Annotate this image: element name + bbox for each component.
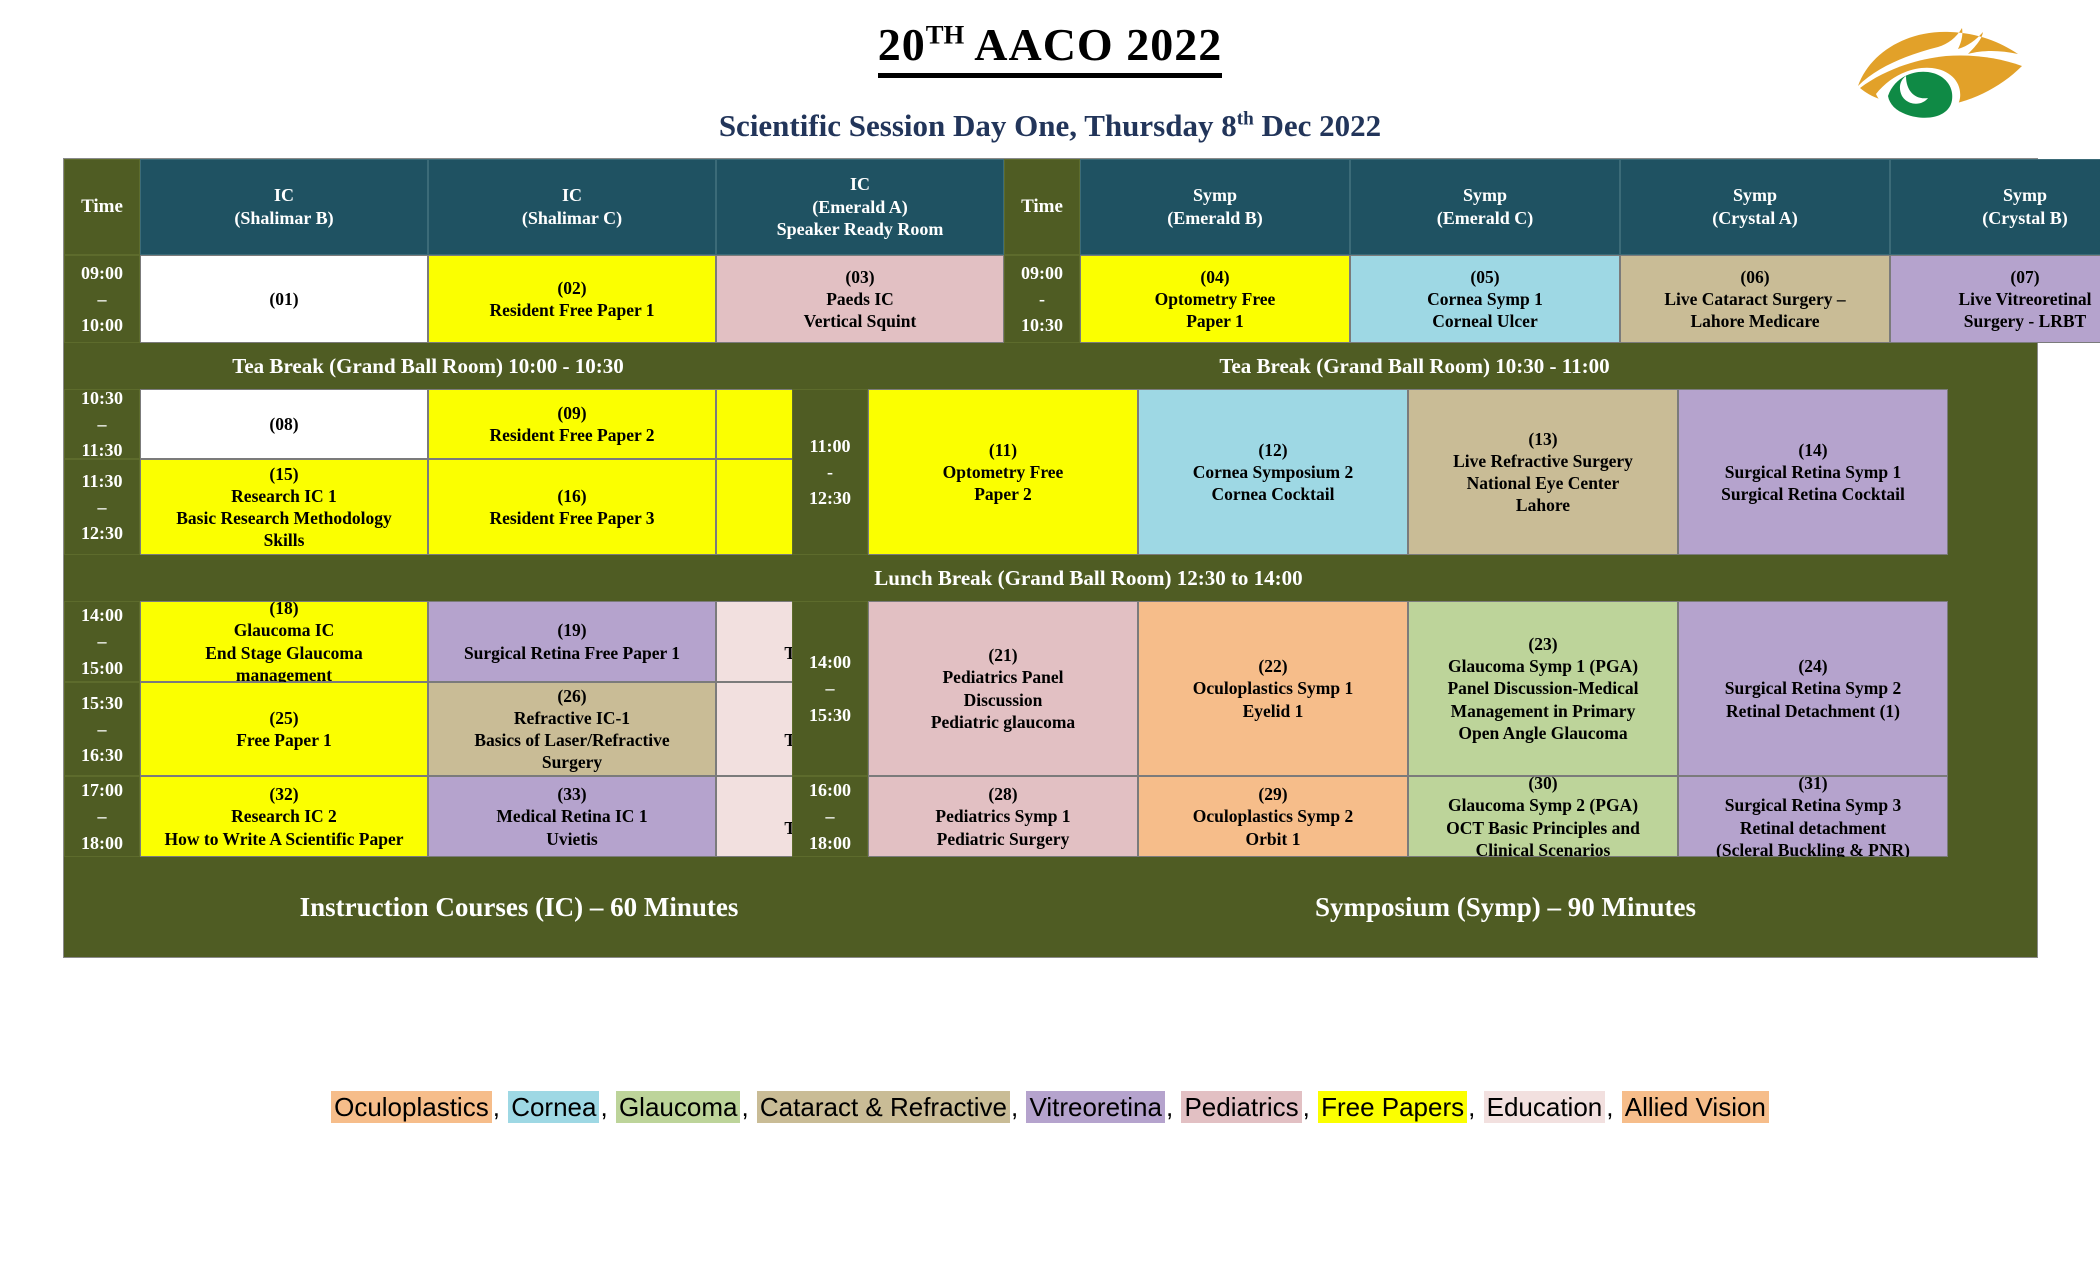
legend-chip-allied-vision: Allied Vision: [1622, 1091, 1769, 1123]
session-07[interactable]: (07) Live Vitreoretinal Surgery - LRBT: [1890, 255, 2100, 343]
session-number: (04): [1155, 266, 1276, 288]
session-subtitle: Orbit 1: [1193, 828, 1353, 850]
session-number: (24): [1725, 655, 1901, 677]
session-number: (13): [1453, 428, 1633, 450]
session-number: (25): [236, 707, 332, 729]
lunch-break-spacer: [64, 555, 140, 601]
session-subtitle-2: Surgery: [474, 751, 669, 773]
session-subtitle: Surgical Retina Cocktail: [1721, 483, 1905, 505]
session-number: (22): [1193, 655, 1353, 677]
title-rest: AACO 2022: [964, 19, 1222, 70]
header-emerald-a: IC (Emerald A) Speaker Ready Room: [716, 159, 1004, 255]
session-number: (21): [931, 644, 1075, 666]
header-type: Symp: [1193, 184, 1237, 207]
time-start: 14:00: [809, 649, 851, 675]
session-title: Optometry Free: [943, 461, 1064, 483]
header-venue: (Emerald B): [1167, 207, 1262, 230]
session-number: (28): [935, 783, 1070, 805]
session-title: Oculoplastics Symp 2: [1193, 805, 1353, 827]
time-end: 18:00: [809, 830, 851, 856]
time-end: 10:30: [1021, 312, 1063, 338]
page-title: 20TH AACO 2022: [0, 18, 2100, 78]
session-subtitle-3: Open Angle Glaucoma: [1447, 722, 1638, 744]
session-number: (32): [165, 783, 404, 805]
session-row-0900: 09:00 – 10:00 (01) (02) Resident Free Pa…: [64, 255, 2037, 343]
time-slot-1130-1230: 11:30 – 12:30: [64, 459, 140, 555]
session-09[interactable]: (09) Resident Free Paper 2: [428, 389, 716, 459]
time-slot-1600-1800: 16:00 – 18:00: [792, 776, 868, 857]
time-slot-1100-1230: 11:00 - 12:30: [792, 389, 868, 555]
page-header: 20TH AACO 2022 Scientific Session Day On…: [0, 0, 2100, 150]
header-type: Symp: [1733, 184, 1777, 207]
title-number: 20: [878, 19, 926, 70]
session-number: (14): [1721, 439, 1905, 461]
session-number: (03): [804, 266, 917, 288]
session-subtitle: Vertical Squint: [804, 310, 917, 332]
time-slot-1530-1630: 15:30 – 16:30: [64, 682, 140, 776]
session-25[interactable]: (25) Free Paper 1: [140, 682, 428, 776]
legend-sep: ,: [740, 1092, 749, 1122]
legend-sep: ,: [1165, 1092, 1174, 1122]
subrow-1130-1230: 11:30 – 12:30 (15) Research IC 1 Basic R…: [64, 459, 792, 555]
session-30[interactable]: (30) Glaucoma Symp 2 (PGA) OCT Basic Pri…: [1408, 776, 1678, 857]
time-start: 09:00: [1021, 260, 1063, 286]
session-title: Pediatrics Panel: [931, 666, 1075, 688]
session-28[interactable]: (28) Pediatrics Symp 1 Pediatric Surgery: [868, 776, 1138, 857]
session-subtitle: Paper 2: [943, 483, 1064, 505]
session-05[interactable]: (05) Cornea Symp 1 Corneal Ulcer: [1350, 255, 1620, 343]
session-title: Glaucoma IC: [205, 619, 363, 641]
session-18[interactable]: (18) Glaucoma IC End Stage Glaucoma mana…: [140, 601, 428, 682]
session-title: Free Paper 1: [236, 729, 332, 751]
session-number: (30): [1446, 772, 1640, 794]
session-title: Surgical Retina Free Paper 1: [464, 642, 680, 664]
session-number: (02): [489, 277, 654, 299]
session-subtitle-2: Lahore: [1453, 494, 1633, 516]
time-dash: –: [98, 286, 107, 312]
session-26[interactable]: (26) Refractive IC-1 Basics of Laser/Ref…: [428, 682, 716, 776]
session-title: Refractive IC-1: [474, 707, 669, 729]
footer-symp-duration: Symposium (Symp) – 90 Minutes: [974, 857, 2037, 957]
session-subtitle: Basics of Laser/Refractive: [474, 729, 669, 751]
session-13[interactable]: (13) Live Refractive Surgery National Ey…: [1408, 389, 1678, 555]
session-number: (12): [1193, 439, 1353, 461]
time-start: 14:00: [81, 602, 123, 628]
table-footer-row: Instruction Courses (IC) – 60 Minutes Sy…: [64, 857, 2037, 957]
subrow-right-1600-1800: 16:00 – 18:00 (28) Pediatrics Symp 1 Ped…: [792, 776, 1949, 857]
session-title: Cornea Symp 1: [1427, 288, 1543, 310]
time-slot-1400-1500: 14:00 – 15:00: [64, 601, 140, 682]
session-04[interactable]: (04) Optometry Free Paper 1: [1080, 255, 1350, 343]
time-start: 15:30: [81, 690, 123, 716]
session-subtitle: Surgery - LRBT: [1958, 310, 2091, 332]
session-number: (26): [474, 685, 669, 707]
session-number: (33): [496, 783, 647, 805]
session-number: (07): [1958, 266, 2091, 288]
time-end: 15:00: [81, 655, 123, 681]
page-subtitle: Scientific Session Day One, Thursday 8th…: [0, 108, 2100, 144]
legend-chip-pediatrics: Pediatrics: [1181, 1091, 1301, 1123]
time-end: 16:30: [81, 742, 123, 768]
legend-chip-vitreoretina: Vitreoretina: [1026, 1091, 1165, 1123]
session-subtitle: Retinal detachment: [1716, 817, 1910, 839]
session-subtitle-2: Management in Primary: [1447, 700, 1638, 722]
session-number: (19): [464, 619, 680, 641]
time-slot-1700-1800: 17:00 – 18:00: [64, 776, 140, 857]
session-number: (06): [1664, 266, 1845, 288]
legend-sep: ,: [492, 1092, 501, 1122]
session-number: (15): [176, 463, 392, 485]
time-slot-0900-1030: 09:00 - 10:30: [1004, 255, 1080, 343]
session-21[interactable]: (21) Pediatrics Panel Discussion Pediatr…: [868, 601, 1138, 776]
session-subtitle: Corneal Ulcer: [1427, 310, 1543, 332]
session-title: Research IC 2: [165, 805, 404, 827]
time-dash: -: [827, 459, 833, 485]
title-ordinal-suffix: TH: [926, 20, 965, 50]
session-subtitle: How to Write A Scientific Paper: [165, 828, 404, 850]
tea-break-right: Tea Break (Grand Ball Room) 10:30 - 11:0…: [792, 343, 2037, 389]
legend-sep: ,: [1302, 1092, 1311, 1122]
subrow-1030-1130: 10:30 – 11:30 (08) (09) Resident Free Pa…: [64, 389, 792, 459]
legend-sep: ,: [1467, 1092, 1476, 1122]
session-subtitle: Uvietis: [496, 828, 647, 850]
session-number: (08): [269, 413, 298, 435]
header-venue: (Shalimar C): [522, 207, 622, 230]
session-title: Surgical Retina Symp 1: [1721, 461, 1905, 483]
session-subtitle-2: Pediatric glaucoma: [931, 711, 1075, 733]
header-emerald-c: Symp (Emerald C): [1350, 159, 1620, 255]
session-title: Medical Retina IC 1: [496, 805, 647, 827]
session-title: Resident Free Paper 2: [489, 424, 654, 446]
schedule-page: 20TH AACO 2022 Scientific Session Day On…: [0, 0, 2100, 1275]
session-subtitle: OCT Basic Principles and: [1446, 817, 1640, 839]
header-time-right: Time: [1004, 159, 1080, 255]
lunch-break-row: Lunch Break (Grand Ball Room) 12:30 to 1…: [64, 555, 2037, 601]
session-title: Glaucoma Symp 1 (PGA): [1447, 655, 1638, 677]
legend-sep: ,: [1010, 1092, 1019, 1122]
legend-sep: ,: [599, 1092, 608, 1122]
session-subtitle: National Eye Center: [1453, 472, 1633, 494]
session-title: Resident Free Paper 1: [489, 299, 654, 321]
session-11[interactable]: (11) Optometry Free Paper 2: [868, 389, 1138, 555]
tea-break-left: Tea Break (Grand Ball Room) 10:00 - 10:3…: [64, 343, 792, 389]
session-subtitle: Pediatric Surgery: [935, 828, 1070, 850]
header-type: IC: [274, 184, 294, 207]
session-title: Pediatrics Symp 1: [935, 805, 1070, 827]
legend-chip-oculoplastics: Oculoplastics: [331, 1091, 492, 1123]
time-end: 12:30: [81, 520, 123, 546]
session-title: Research IC 1: [176, 485, 392, 507]
session-title: Resident Free Paper 3: [489, 507, 654, 529]
legend-chip-glaucoma: Glaucoma: [616, 1091, 741, 1123]
time-dash: –: [98, 716, 107, 742]
header-emerald-b: Symp (Emerald B): [1080, 159, 1350, 255]
time-dash: –: [98, 494, 107, 520]
session-number: (18): [205, 597, 363, 619]
session-subtitle: Discussion: [931, 689, 1075, 711]
legend-chip-education: Education: [1484, 1091, 1606, 1123]
time-start: 16:00: [809, 777, 851, 803]
session-number: (11): [943, 439, 1064, 461]
session-03[interactable]: (03) Paeds IC Vertical Squint: [716, 255, 1004, 343]
session-subtitle: Lahore Medicare: [1664, 310, 1845, 332]
session-title: Optometry Free: [1155, 288, 1276, 310]
session-subtitle: Retinal Detachment (1): [1725, 700, 1901, 722]
session-title: Live Cataract Surgery –: [1664, 288, 1845, 310]
legend-chip-cornea: Cornea: [508, 1091, 599, 1123]
session-number: (23): [1447, 633, 1638, 655]
specialty-legend: Oculoplastics, Cornea, Glaucoma, Catarac…: [0, 1092, 2100, 1123]
header-type: IC: [562, 184, 582, 207]
time-dash: –: [98, 628, 107, 654]
session-subtitle: Basic Research Methodology: [176, 507, 392, 529]
session-title: Surgical Retina Symp 2: [1725, 677, 1901, 699]
lunch-break-label: Lunch Break (Grand Ball Room) 12:30 to 1…: [140, 555, 2037, 601]
session-title: Glaucoma Symp 2 (PGA): [1446, 794, 1640, 816]
subrow-1700-1800: 17:00 – 18:00 (32) Research IC 2 How to …: [64, 776, 792, 857]
footer-ic-duration: Instruction Courses (IC) – 60 Minutes: [64, 857, 974, 957]
session-title: Oculoplastics Symp 1: [1193, 677, 1353, 699]
session-row-afternoon: 14:00 – 15:00 (18) Glaucoma IC End Stage…: [64, 601, 2037, 857]
session-06[interactable]: (06) Live Cataract Surgery – Lahore Medi…: [1620, 255, 1890, 343]
session-subtitle: Panel Discussion-Medical: [1447, 677, 1638, 699]
session-14[interactable]: (14) Surgical Retina Symp 1 Surgical Ret…: [1678, 389, 1948, 555]
session-15[interactable]: (15) Research IC 1 Basic Research Method…: [140, 459, 428, 555]
time-slot-1400-1530: 14:00 – 15:30: [792, 601, 868, 776]
session-31[interactable]: (31) Surgical Retina Symp 3 Retinal deta…: [1678, 776, 1948, 857]
subrow-right-1400-1530: 14:00 – 15:30 (21) Pediatrics Panel Disc…: [792, 601, 1949, 776]
time-start: 11:30: [81, 468, 122, 494]
header-venue: (Crystal A): [1712, 207, 1797, 230]
time-dash: –: [98, 803, 107, 829]
header-type: Symp: [1463, 184, 1507, 207]
session-number: (09): [489, 402, 654, 424]
aaco-eye-logo: [1850, 14, 2040, 124]
time-dash: –: [826, 675, 835, 701]
session-title: Live Refractive Surgery: [1453, 450, 1633, 472]
session-subtitle-2: Skills: [176, 529, 392, 551]
session-subtitle: Cornea Cocktail: [1193, 483, 1353, 505]
session-24[interactable]: (24) Surgical Retina Symp 2 Retinal Deta…: [1678, 601, 1948, 776]
legend-chip-free-papers: Free Papers: [1318, 1091, 1467, 1123]
schedule-table: Time IC (Shalimar B) IC (Shalimar C) IC …: [63, 158, 2038, 958]
subrow-1530-1630: 15:30 – 16:30 (25) Free Paper 1 (26) Ref…: [64, 682, 792, 776]
session-subtitle: End Stage Glaucoma: [205, 642, 363, 664]
time-slot-0900-1000: 09:00 – 10:00: [64, 255, 140, 343]
session-12[interactable]: (12) Cornea Symposium 2 Cornea Cocktail: [1138, 389, 1408, 555]
header-shalimar-c: IC (Shalimar C): [428, 159, 716, 255]
header-type: Symp: [2003, 184, 2047, 207]
session-32[interactable]: (32) Research IC 2 How to Write A Scient…: [140, 776, 428, 857]
session-01[interactable]: (01): [140, 255, 428, 343]
time-start: 10:30: [81, 385, 123, 411]
session-number: (29): [1193, 783, 1353, 805]
header-note: Speaker Ready Room: [777, 218, 944, 241]
time-end: 18:00: [81, 830, 123, 856]
session-19[interactable]: (19) Surgical Retina Free Paper 1: [428, 601, 716, 682]
session-title: Live Vitreoretinal: [1958, 288, 2091, 310]
session-number: (31): [1716, 772, 1910, 794]
session-number: (05): [1427, 266, 1543, 288]
session-title: Paeds IC: [804, 288, 917, 310]
header-venue: (Emerald A): [812, 196, 907, 219]
header-venue: (Shalimar B): [234, 207, 333, 230]
session-number: (16): [489, 485, 654, 507]
header-venue: (Emerald C): [1437, 207, 1533, 230]
session-16[interactable]: (16) Resident Free Paper 3: [428, 459, 716, 555]
time-dash: -: [1039, 286, 1045, 312]
tea-break-row: Tea Break (Grand Ball Room) 10:00 - 10:3…: [64, 343, 2037, 389]
time-end: 15:30: [809, 702, 851, 728]
legend-sep: ,: [1605, 1092, 1614, 1122]
session-title: Surgical Retina Symp 3: [1716, 794, 1910, 816]
header-venue: (Crystal B): [1982, 207, 2067, 230]
session-number: (01): [269, 288, 298, 310]
header-crystal-a: Symp (Crystal A): [1620, 159, 1890, 255]
time-dash: –: [98, 411, 107, 437]
subrow-1400-1500: 14:00 – 15:00 (18) Glaucoma IC End Stage…: [64, 601, 792, 682]
session-22[interactable]: (22) Oculoplastics Symp 1 Eyelid 1: [1138, 601, 1408, 776]
subtitle-post: Dec 2022: [1254, 108, 1381, 143]
header-crystal-b: Symp (Crystal B): [1890, 159, 2100, 255]
legend-chip-cataract-refractive: Cataract & Refractive: [757, 1091, 1010, 1123]
session-row-1030: 10:30 – 11:30 (08) (09) Resident Free Pa…: [64, 389, 2037, 555]
session-title: Cornea Symposium 2: [1193, 461, 1353, 483]
header-type: IC: [850, 173, 870, 196]
table-header-row: Time IC (Shalimar B) IC (Shalimar C) IC …: [64, 159, 2037, 255]
time-end: 10:00: [81, 312, 123, 338]
time-dash: –: [826, 803, 835, 829]
subtitle-ordinal-suffix: th: [1237, 109, 1254, 130]
time-end: 12:30: [809, 485, 851, 511]
session-subtitle: Paper 1: [1155, 310, 1276, 332]
session-02[interactable]: (02) Resident Free Paper 1: [428, 255, 716, 343]
session-subtitle: Eyelid 1: [1193, 700, 1353, 722]
time-start: 09:00: [81, 260, 123, 286]
session-33[interactable]: (33) Medical Retina IC 1 Uvietis: [428, 776, 716, 857]
subtitle-pre: Scientific Session Day One, Thursday 8: [719, 108, 1237, 143]
header-time-left: Time: [64, 159, 140, 255]
time-start: 11:00: [809, 433, 850, 459]
time-start: 17:00: [81, 777, 123, 803]
session-08[interactable]: (08): [140, 389, 428, 459]
session-29[interactable]: (29) Oculoplastics Symp 2 Orbit 1: [1138, 776, 1408, 857]
header-shalimar-b: IC (Shalimar B): [140, 159, 428, 255]
time-slot-1030-1130: 10:30 – 11:30: [64, 389, 140, 459]
session-23[interactable]: (23) Glaucoma Symp 1 (PGA) Panel Discuss…: [1408, 601, 1678, 776]
